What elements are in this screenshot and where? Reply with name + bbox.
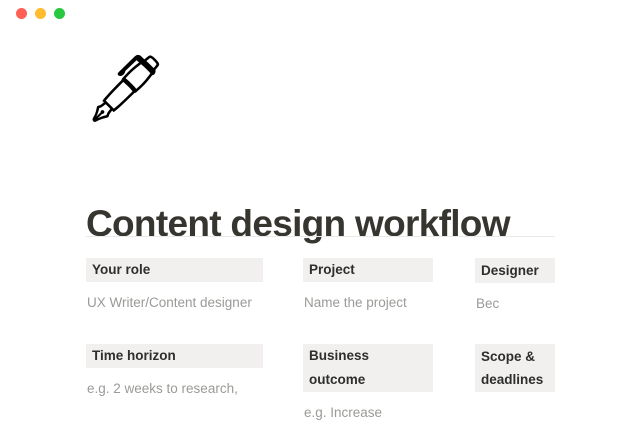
document-page: 🖋 Content design workflow Your role UX W… bbox=[0, 28, 640, 400]
property-label[interactable]: Business outcome bbox=[303, 344, 433, 392]
property-time-horizon: Time horizon e.g. 2 weeks to research, bbox=[86, 344, 263, 398]
traffic-light-group bbox=[16, 8, 65, 19]
property-your-role: Your role UX Writer/Content designer bbox=[86, 258, 263, 312]
property-label[interactable]: Designer bbox=[475, 258, 555, 283]
property-value[interactable]: e.g. 2 weeks to research, bbox=[86, 380, 263, 398]
property-label[interactable]: Project bbox=[303, 258, 433, 282]
property-grid: Your role UX Writer/Content designer Pro… bbox=[86, 258, 556, 430]
window-titlebar bbox=[0, 0, 640, 28]
property-business-outcome: Business outcome e.g. Increase bbox=[303, 344, 433, 422]
fountain-pen-emoji[interactable]: 🖋 bbox=[84, 56, 168, 122]
page-title[interactable]: Content design workflow bbox=[86, 203, 566, 244]
property-value[interactable]: Bec bbox=[475, 295, 555, 313]
property-value[interactable]: e.g. Increase bbox=[303, 404, 433, 422]
property-value[interactable]: UX Writer/Content designer bbox=[86, 294, 263, 312]
property-label[interactable]: Time horizon bbox=[86, 344, 263, 368]
maximize-button[interactable] bbox=[54, 8, 65, 19]
close-button[interactable] bbox=[16, 8, 27, 19]
property-project: Project Name the project bbox=[303, 258, 433, 312]
minimize-button[interactable] bbox=[35, 8, 46, 19]
property-row: Your role UX Writer/Content designer Pro… bbox=[86, 258, 556, 344]
property-designer: Designer Bec bbox=[475, 258, 555, 313]
property-row: Time horizon e.g. 2 weeks to research, B… bbox=[86, 344, 556, 430]
property-label[interactable]: Your role bbox=[86, 258, 263, 282]
title-divider bbox=[86, 236, 555, 237]
property-value[interactable]: Name the project bbox=[303, 294, 433, 312]
property-scope-deadlines: Scope & deadlines bbox=[475, 344, 555, 392]
property-label[interactable]: Scope & deadlines bbox=[475, 344, 555, 392]
